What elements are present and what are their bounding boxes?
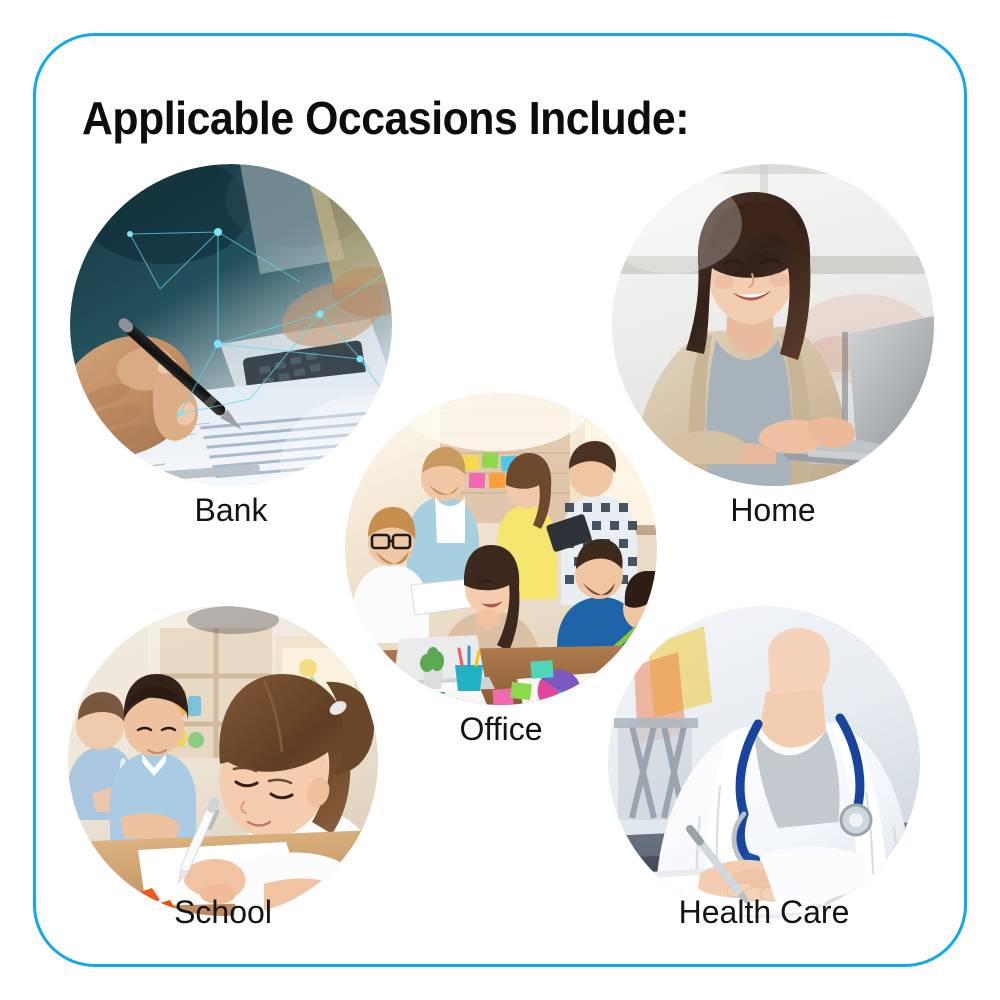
occasion-label-school: School — [68, 896, 378, 928]
occasion-home[interactable]: Home — [612, 164, 934, 486]
occasion-bank[interactable]: Bank — [70, 164, 392, 486]
occasion-school[interactable]: School — [68, 606, 378, 916]
occasions-infographic: Applicable Occasions Include: — [0, 0, 1000, 1000]
occasion-label-health: Health Care — [608, 896, 920, 928]
occasion-health[interactable]: Health Care — [608, 606, 920, 918]
occasion-label-home: Home — [612, 494, 934, 526]
bank-photo — [70, 164, 392, 486]
occasion-label-bank: Bank — [70, 494, 392, 526]
health-care-photo — [608, 606, 920, 918]
home-photo — [612, 164, 934, 486]
page-title: Applicable Occasions Include: — [82, 93, 689, 144]
school-photo — [68, 606, 378, 916]
